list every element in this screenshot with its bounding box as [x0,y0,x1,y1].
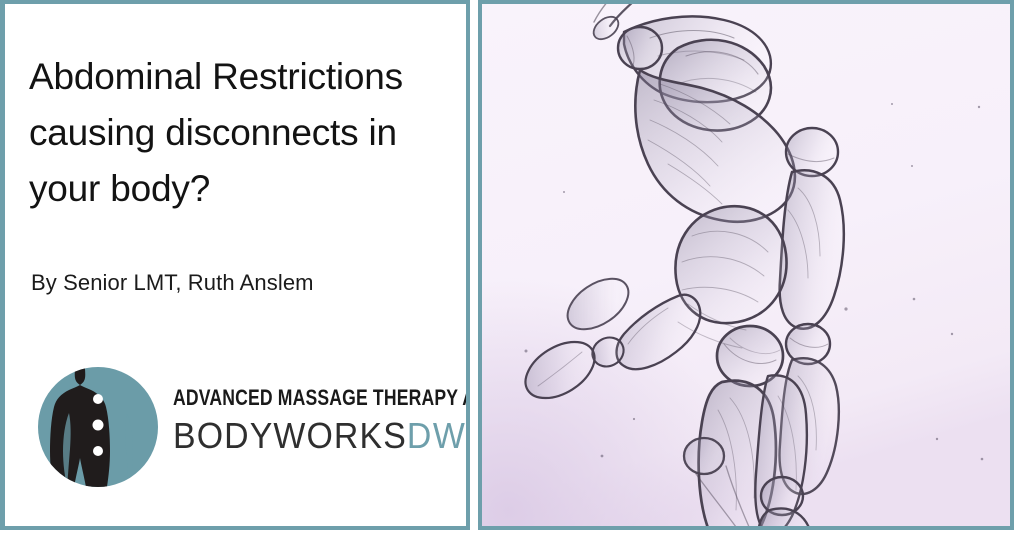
brand-logo[interactable]: ADVANCED MASSAGE THERAPY AT BODYWORKSDW [37,362,457,494]
brand-suffix: DW [407,415,466,456]
text-panel: Abdominal Restrictions causing disconnec… [0,0,470,530]
mannequin-sketch-image [482,4,1010,526]
page-title: Abdominal Restrictions causing disconnec… [29,49,459,217]
brand-name-line: BODYWORKSDW [173,416,446,456]
byline: By Senior LMT, Ruth Anslem [31,268,314,298]
article-promo-card: Abdominal Restrictions causing disconnec… [0,0,1024,538]
image-panel [478,0,1014,530]
torso-back-silhouette-icon [37,366,159,488]
brand-name: BODYWORKS [173,415,407,456]
brand-wordmark: ADVANCED MASSAGE THERAPY AT BODYWORKSDW [173,386,463,456]
brand-tagline: ADVANCED MASSAGE THERAPY AT [173,386,405,410]
